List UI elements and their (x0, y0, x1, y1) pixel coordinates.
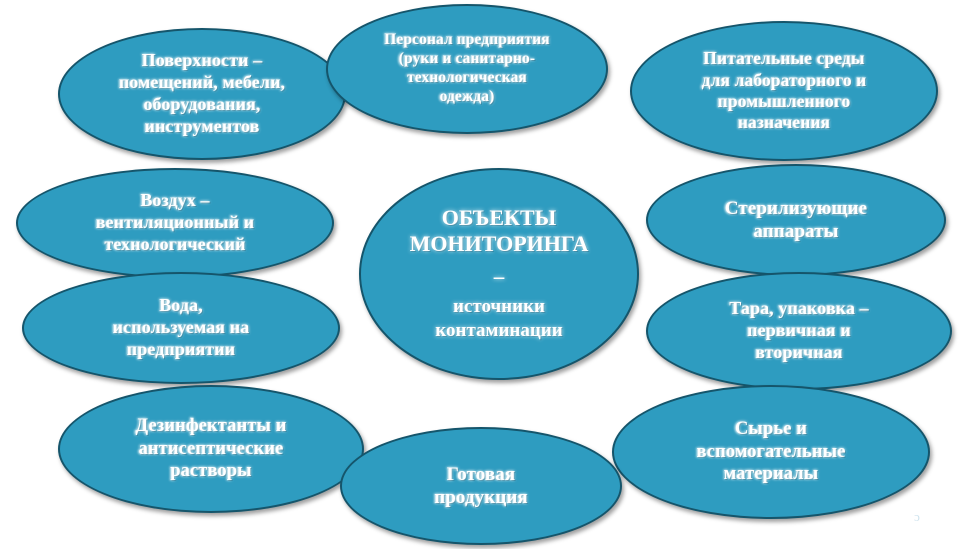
node-raw-materials-label: Сырье и вспомогательные материалы (686, 418, 855, 486)
node-disinfectants-label: Дезинфектанты и антисептические растворы (125, 415, 296, 483)
diagram-canvas: Поверхности – помещений, мебели, оборудо… (0, 0, 979, 549)
node-air-label: Воздух – вентиляционный и технологически… (86, 190, 265, 256)
center-node-content: ОБЪЕКТЫ МОНИТОРИНГА – источники контамин… (410, 205, 589, 343)
node-nutrient-media[interactable]: Питательные среды для лабораторного и пр… (630, 21, 938, 161)
node-water-label: Вода, используемая на предприятии (103, 295, 260, 361)
node-packaging[interactable]: Тара, упаковка – первичная и вторичная (646, 272, 952, 390)
node-sterilizers-label: Стерилизующие аппараты (715, 197, 877, 243)
node-personnel[interactable]: Персонал предприятия (руки и санитарно- … (326, 4, 608, 134)
node-finished-product[interactable]: Готовая продукция (340, 427, 622, 545)
node-finished-product-label: Готовая продукция (424, 463, 538, 509)
center-node-title: ОБЪЕКТЫ МОНИТОРИНГА (410, 205, 589, 258)
node-sterilizers[interactable]: Стерилизующие аппараты (646, 164, 946, 276)
scan-artifact-mark: ɔ (910, 510, 924, 524)
node-surfaces-label: Поверхности – помещений, мебели, оборудо… (109, 50, 295, 138)
node-water[interactable]: Вода, используемая на предприятии (22, 272, 340, 384)
node-raw-materials[interactable]: Сырье и вспомогательные материалы (612, 385, 930, 519)
node-center-monitoring-objects[interactable]: ОБЪЕКТЫ МОНИТОРИНГА – источники контамин… (359, 168, 639, 380)
node-disinfectants[interactable]: Дезинфектанты и антисептические растворы (58, 385, 364, 513)
center-node-subtitle: источники контаминации (435, 295, 562, 343)
node-personnel-label: Персонал предприятия (руки и санитарно- … (374, 31, 559, 107)
center-node-dash: – (494, 260, 505, 294)
node-packaging-label: Тара, упаковка – первичная и вторичная (719, 298, 879, 364)
node-air[interactable]: Воздух – вентиляционный и технологически… (16, 168, 334, 278)
node-nutrient-media-label: Питательные среды для лабораторного и пр… (692, 48, 877, 133)
node-surfaces[interactable]: Поверхности – помещений, мебели, оборудо… (58, 28, 346, 160)
